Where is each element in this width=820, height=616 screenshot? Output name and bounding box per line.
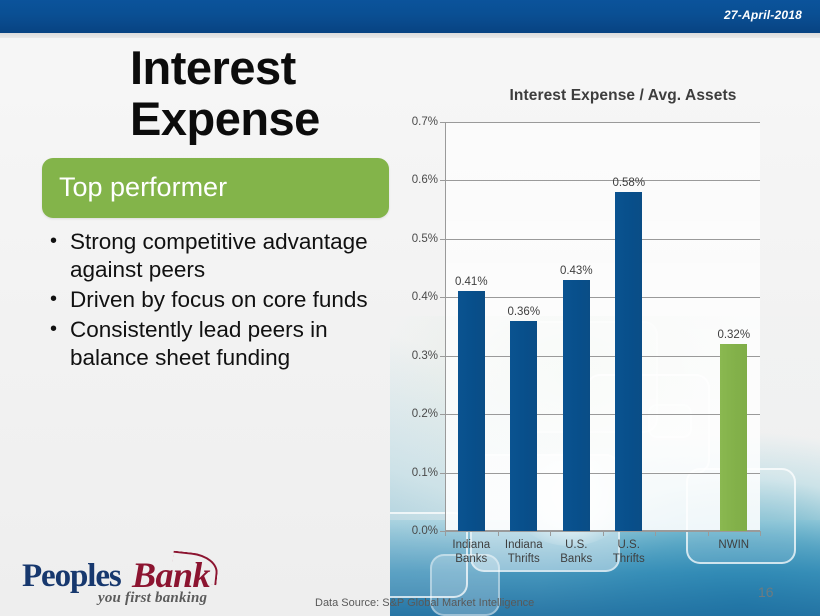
x-axis-tick-mark [655, 531, 656, 536]
y-axis-tick-mark [440, 297, 445, 298]
chart-bar-value-label: 0.41% [455, 276, 488, 288]
chart-bar-value-label: 0.43% [560, 265, 593, 277]
y-axis-tick-mark [440, 122, 445, 123]
x-axis-tick-mark [708, 531, 709, 536]
header-date: 27-April-2018 [724, 8, 802, 22]
page-number: 16 [758, 584, 774, 600]
x-axis-tick-mark [603, 531, 604, 536]
bar-chart: Interest Expense / Avg. Assets 0.0%0.1%0… [405, 84, 805, 564]
x-axis-category-label: U.S. Banks [560, 538, 592, 566]
brand-logo: Peoples Bank you first banking [22, 556, 222, 608]
logo-swoosh-icon [171, 551, 220, 586]
y-axis-tick-mark [440, 356, 445, 357]
x-axis-category-label: U.S. Thrifts [613, 538, 645, 566]
chart-bar [563, 280, 590, 531]
gridline [445, 180, 760, 181]
y-axis-tick-label: 0.0% [412, 525, 438, 537]
chart-bar [510, 321, 537, 531]
gridline [445, 473, 760, 474]
x-axis-tick-mark [550, 531, 551, 536]
gridline [445, 239, 760, 240]
header-separator [0, 33, 820, 38]
x-axis-tick-mark [498, 531, 499, 536]
gridline [445, 356, 760, 357]
y-axis-tick-mark [440, 239, 445, 240]
chart-title: Interest Expense / Avg. Assets [453, 87, 793, 105]
x-axis-category-label: Indiana Thrifts [505, 538, 543, 566]
logo-tagline: you first banking [98, 590, 207, 607]
y-axis-tick-label: 0.4% [412, 291, 438, 303]
callout-label: Top performer [59, 170, 227, 204]
header-bar [0, 0, 820, 33]
chart-plot-area: 0.0%0.1%0.2%0.3%0.4%0.5%0.6%0.7%0.41%Ind… [445, 122, 760, 531]
x-axis-tick-mark [760, 531, 761, 536]
y-axis-line [445, 122, 446, 531]
slide-canvas: 27-April-2018 Interest Expense Top perfo… [0, 0, 820, 616]
y-axis-tick-mark [440, 414, 445, 415]
list-item: Consistently lead peers in balance sheet… [44, 316, 394, 372]
data-source-note: Data Source: S&P Global Market Intellige… [315, 597, 534, 609]
x-axis-category-label: NWIN [718, 538, 749, 552]
chart-bar [615, 192, 642, 531]
chart-bar-value-label: 0.36% [507, 306, 540, 318]
x-axis-category-label: Indiana Banks [452, 538, 490, 566]
y-axis-tick-label: 0.1% [412, 467, 438, 479]
y-axis-tick-label: 0.3% [412, 350, 438, 362]
gridline [445, 414, 760, 415]
x-axis-tick-mark [445, 531, 446, 536]
callout-box: Top performer [42, 158, 389, 218]
list-item: Strong competitive advantage against pee… [44, 228, 394, 284]
chart-bar [720, 344, 747, 531]
gridline [445, 297, 760, 298]
bullet-list: Strong competitive advantage against pee… [44, 228, 394, 374]
page-title-line2: Expense [130, 93, 420, 144]
y-axis-tick-mark [440, 473, 445, 474]
y-axis-tick-label: 0.5% [412, 233, 438, 245]
page-title-line1: Interest [130, 42, 420, 93]
y-axis-tick-label: 0.7% [412, 116, 438, 128]
chart-bar [458, 291, 485, 531]
list-item: Driven by focus on core funds [44, 286, 394, 314]
chart-bar-value-label: 0.32% [717, 329, 750, 341]
y-axis-tick-mark [440, 180, 445, 181]
page-title: Interest Expense [130, 42, 420, 144]
chart-bar-value-label: 0.58% [612, 177, 645, 189]
y-axis-tick-label: 0.6% [412, 174, 438, 186]
y-axis-tick-label: 0.2% [412, 408, 438, 420]
gridline [445, 122, 760, 123]
